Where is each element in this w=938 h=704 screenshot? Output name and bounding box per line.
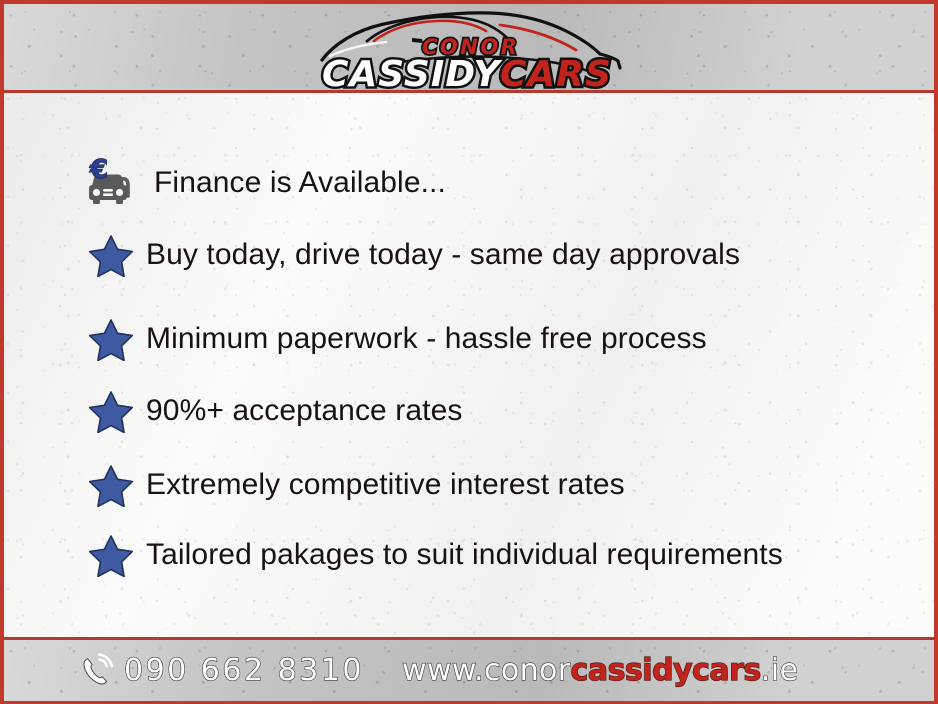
list-item-finance: € Finance is Available...: [82, 151, 894, 215]
phone-ringing-icon: [78, 652, 116, 690]
list-item: Buy today, drive today - same day approv…: [82, 223, 894, 287]
main-content: € Finance is Available... Buy today, dri…: [4, 93, 934, 637]
list-item-label: Tailored pakages to suit individual requ…: [140, 538, 783, 572]
brand-logo[interactable]: CONOR CASSIDY CARS: [304, 4, 634, 90]
logo-text-cassidy: CASSIDY: [322, 54, 503, 90]
phone-contact[interactable]: 090 662 8310: [78, 652, 364, 690]
star-icon: [82, 317, 140, 361]
sports-car-silhouette-icon: CONOR CASSIDY CARS: [304, 4, 634, 90]
website-accent: cassidycars: [571, 653, 761, 688]
website-suffix: .ie: [761, 653, 799, 688]
footer-band: 090 662 8310 www.conorcassidycars.ie: [4, 640, 934, 701]
advert-poster: CONOR CASSIDY CARS: [0, 0, 938, 704]
list-item: 90%+ acceptance rates: [82, 379, 894, 443]
list-item: Tailored pakages to suit individual requ…: [82, 523, 894, 587]
svg-text:€: €: [89, 156, 108, 185]
finance-label: Finance is Available...: [140, 166, 446, 200]
star-icon: [82, 233, 140, 277]
header-divider: [4, 90, 934, 93]
star-icon: [82, 389, 140, 433]
header-band: CONOR CASSIDY CARS: [4, 4, 934, 90]
list-item: Minimum paperwork - hassle free process: [82, 307, 894, 371]
list-item-label: Buy today, drive today - same day approv…: [140, 238, 740, 272]
euro-symbol-icon: €: [89, 156, 108, 185]
list-item: Extremely competitive interest rates: [82, 453, 894, 517]
list-item-label: 90%+ acceptance rates: [140, 394, 462, 428]
top-red-border: [4, 0, 934, 4]
website-url[interactable]: www.conorcassidycars.ie: [402, 653, 798, 688]
phone-number: 090 662 8310: [124, 653, 364, 688]
car-finance-euro-icon: €: [82, 156, 140, 210]
star-icon: [82, 463, 140, 507]
footer-divider: [4, 637, 934, 640]
logo-text-cars: CARS: [500, 54, 612, 90]
star-icon: [82, 533, 140, 577]
list-item-label: Extremely competitive interest rates: [140, 468, 625, 502]
website-prefix: www.conor: [402, 653, 571, 688]
benefits-list: € Finance is Available... Buy today, dri…: [82, 151, 894, 587]
list-item-label: Minimum paperwork - hassle free process: [140, 322, 707, 356]
